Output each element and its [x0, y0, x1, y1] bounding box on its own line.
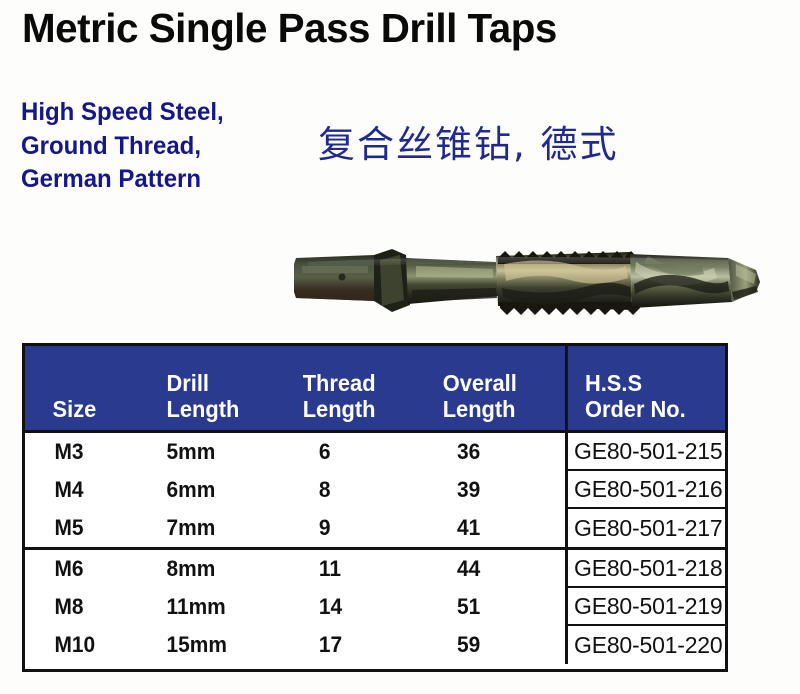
cell-overall-length: 59: [437, 632, 559, 658]
cell-drill-length: 8mm: [157, 556, 290, 582]
subtitle-line-2: Ground Thread,: [21, 130, 309, 164]
cell-order-no: GE80-501-217: [565, 509, 725, 547]
subtitle-line-1: High Speed Steel,: [21, 96, 309, 130]
column-header-thread-line1: Thread: [303, 370, 430, 397]
cell-overall-length: 39: [437, 477, 559, 503]
cell-drill-length: 7mm: [157, 515, 290, 541]
table-row-group: M6 8mm 11 44 GE80-501-218 M8 11mm 14 51 …: [25, 550, 725, 664]
cell-overall-length: 36: [437, 439, 559, 465]
subtitle-chinese: 复合丝锥钻, 德式: [318, 114, 619, 168]
cell-drill-length: 11mm: [157, 594, 290, 620]
column-header-overall-line2: Length: [443, 396, 559, 423]
table-row: M10 15mm 17 59 GE80-501-220: [25, 626, 725, 664]
cell-order-no: GE80-501-219: [565, 588, 725, 626]
table-row: M8 11mm 14 51 GE80-501-219: [25, 588, 725, 626]
cell-order-no: GE80-501-220: [565, 626, 725, 664]
table-row: M3 5mm 6 36 GE80-501-215: [25, 433, 725, 471]
cell-size: M4: [25, 477, 150, 503]
column-header-drill-line1: Drill: [167, 370, 291, 397]
page-title: Metric Single Pass Drill Taps: [22, 6, 769, 52]
table-row-group: M3 5mm 6 36 GE80-501-215 M4 6mm 8 39 GE8…: [25, 433, 725, 550]
column-header-size-line2: Size: [53, 396, 151, 423]
cell-order-no: GE80-501-218: [565, 550, 725, 588]
cell-overall-length: 44: [437, 556, 559, 582]
column-header-thread-line2: Length: [303, 396, 430, 423]
column-header-size: Size: [25, 346, 150, 430]
column-header-drill-length: Drill Length: [157, 346, 290, 430]
cell-thread-length: 14: [297, 594, 430, 620]
cell-size: M5: [25, 515, 150, 541]
cell-size: M3: [25, 439, 150, 465]
cell-order-no: GE80-501-215: [565, 433, 725, 471]
cell-size: M8: [25, 594, 150, 620]
cell-thread-length: 8: [297, 477, 430, 503]
column-header-order-no: H.S.S Order No.: [565, 346, 717, 430]
cell-drill-length: 15mm: [157, 632, 290, 658]
table-header-row: Size Drill Length Thread Length Overall …: [25, 346, 725, 433]
drill-tap-photo: [288, 222, 766, 334]
cell-thread-length: 17: [297, 632, 430, 658]
specification-table: Size Drill Length Thread Length Overall …: [22, 343, 728, 672]
table-row: M4 6mm 8 39 GE80-501-216: [25, 471, 725, 509]
column-header-thread-length: Thread Length: [297, 346, 430, 430]
column-header-order-line2: Order No.: [585, 396, 717, 423]
subtitle-english: High Speed Steel, Ground Thread, German …: [21, 96, 309, 197]
cell-thread-length: 11: [297, 556, 430, 582]
cell-order-no: GE80-501-216: [565, 471, 725, 509]
cell-overall-length: 51: [437, 594, 559, 620]
cell-size: M6: [25, 556, 150, 582]
cell-size: M10: [25, 632, 150, 658]
cell-thread-length: 9: [297, 515, 430, 541]
cell-drill-length: 6mm: [157, 477, 290, 503]
column-header-drill-line2: Length: [167, 396, 291, 423]
cell-overall-length: 41: [437, 515, 559, 541]
table-row: M6 8mm 11 44 GE80-501-218: [25, 550, 725, 588]
column-header-order-line1: H.S.S: [585, 370, 717, 397]
subtitle-line-3: German Pattern: [21, 163, 309, 197]
cell-thread-length: 6: [297, 439, 430, 465]
cell-drill-length: 5mm: [157, 439, 290, 465]
table-body: M3 5mm 6 36 GE80-501-215 M4 6mm 8 39 GE8…: [25, 433, 725, 664]
table-row: M5 7mm 9 41 GE80-501-217: [25, 509, 725, 547]
column-header-overall-line1: Overall: [443, 370, 559, 397]
column-header-overall-length: Overall Length: [437, 346, 559, 430]
